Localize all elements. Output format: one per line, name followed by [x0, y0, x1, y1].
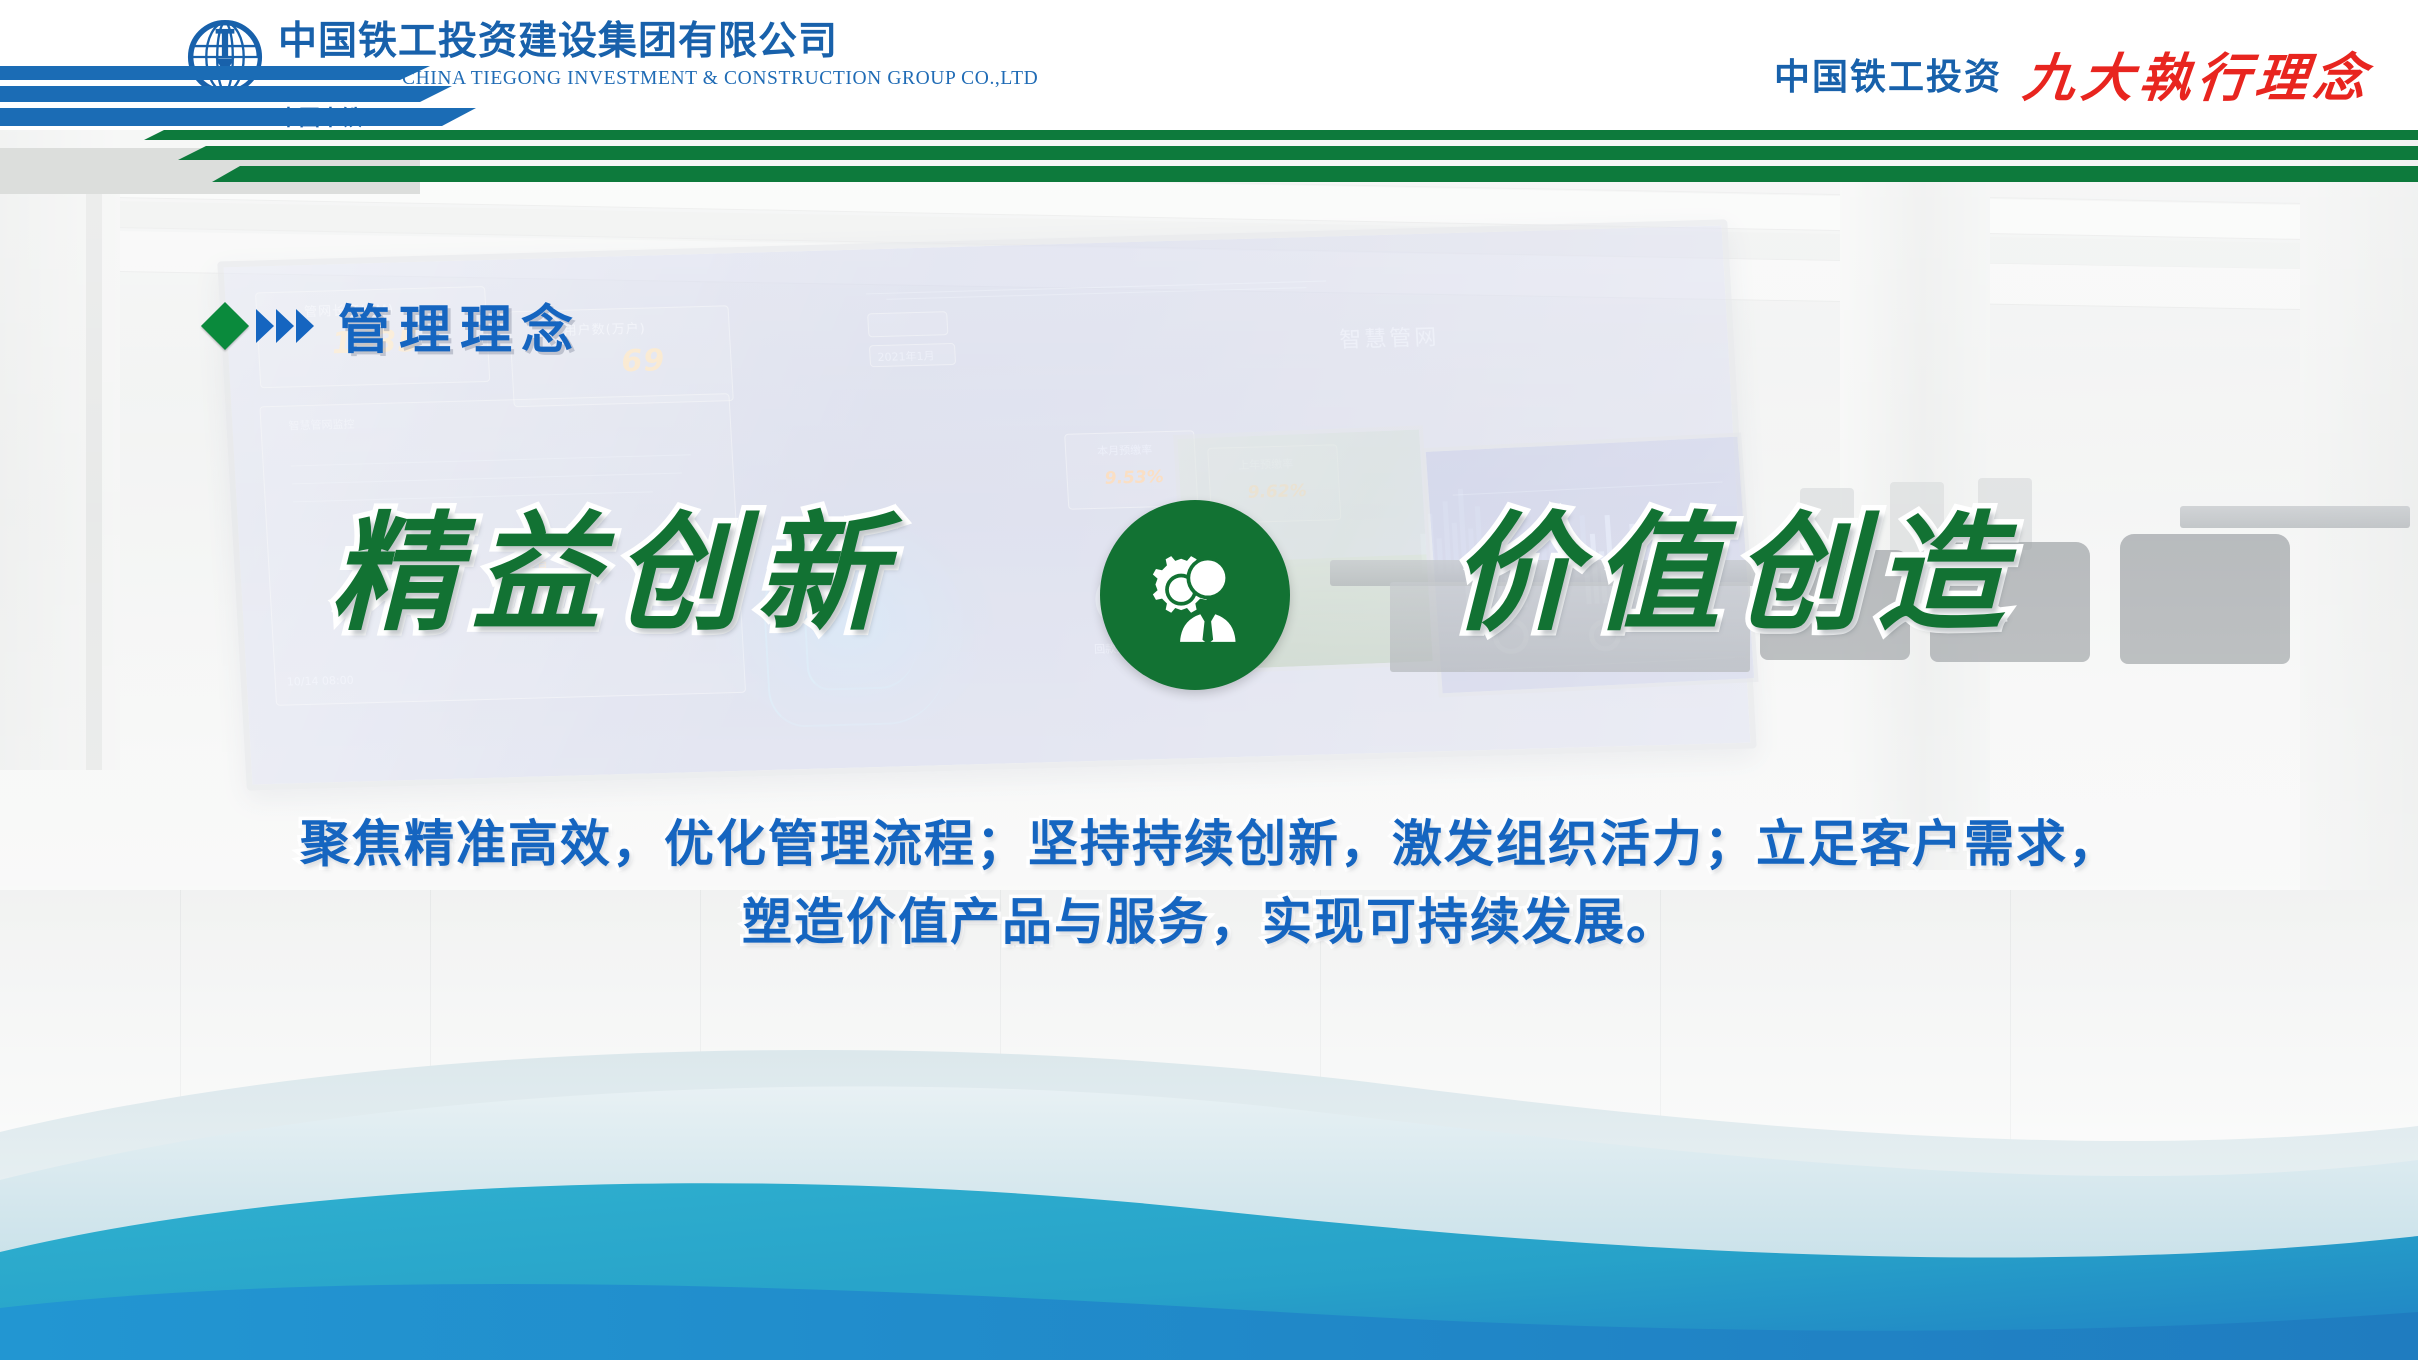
green-diamond-icon: [201, 301, 249, 349]
gear-manager-glyph: [1131, 531, 1259, 659]
blue-stripe-decoration: [0, 64, 560, 130]
gear-manager-icon: [1100, 500, 1290, 690]
slide-canvas: 管网长度(KM) 1435 用户数(万户) 69 智慧管网 2021年1月 智慧…: [0, 0, 2418, 1360]
management-philosophy-text: 聚焦精准高效，优化管理流程；坚持持续创新，激发组织活力；立足客户需求，塑造价值产…: [300, 805, 2120, 961]
header-right-red-label: 九大執行理念: [2020, 36, 2376, 111]
slogan-left: 精益创新: [330, 470, 898, 655]
header-right-block: 中国铁工投资 九大執行理念: [1774, 36, 2372, 111]
header-right-label: 中国铁工投资: [1774, 48, 2002, 100]
slogan-right: 价值创造: [1450, 470, 2018, 655]
section-title: 管理理念: [338, 288, 582, 363]
chevron-right-icon: [256, 309, 314, 343]
company-name-cn: 中国铁工投资建设集团有限公司: [278, 18, 1038, 66]
section-title-block: 管理理念: [208, 288, 582, 363]
bottom-wave-decoration: [0, 1040, 2418, 1360]
green-stripe-decoration: [0, 124, 2418, 184]
